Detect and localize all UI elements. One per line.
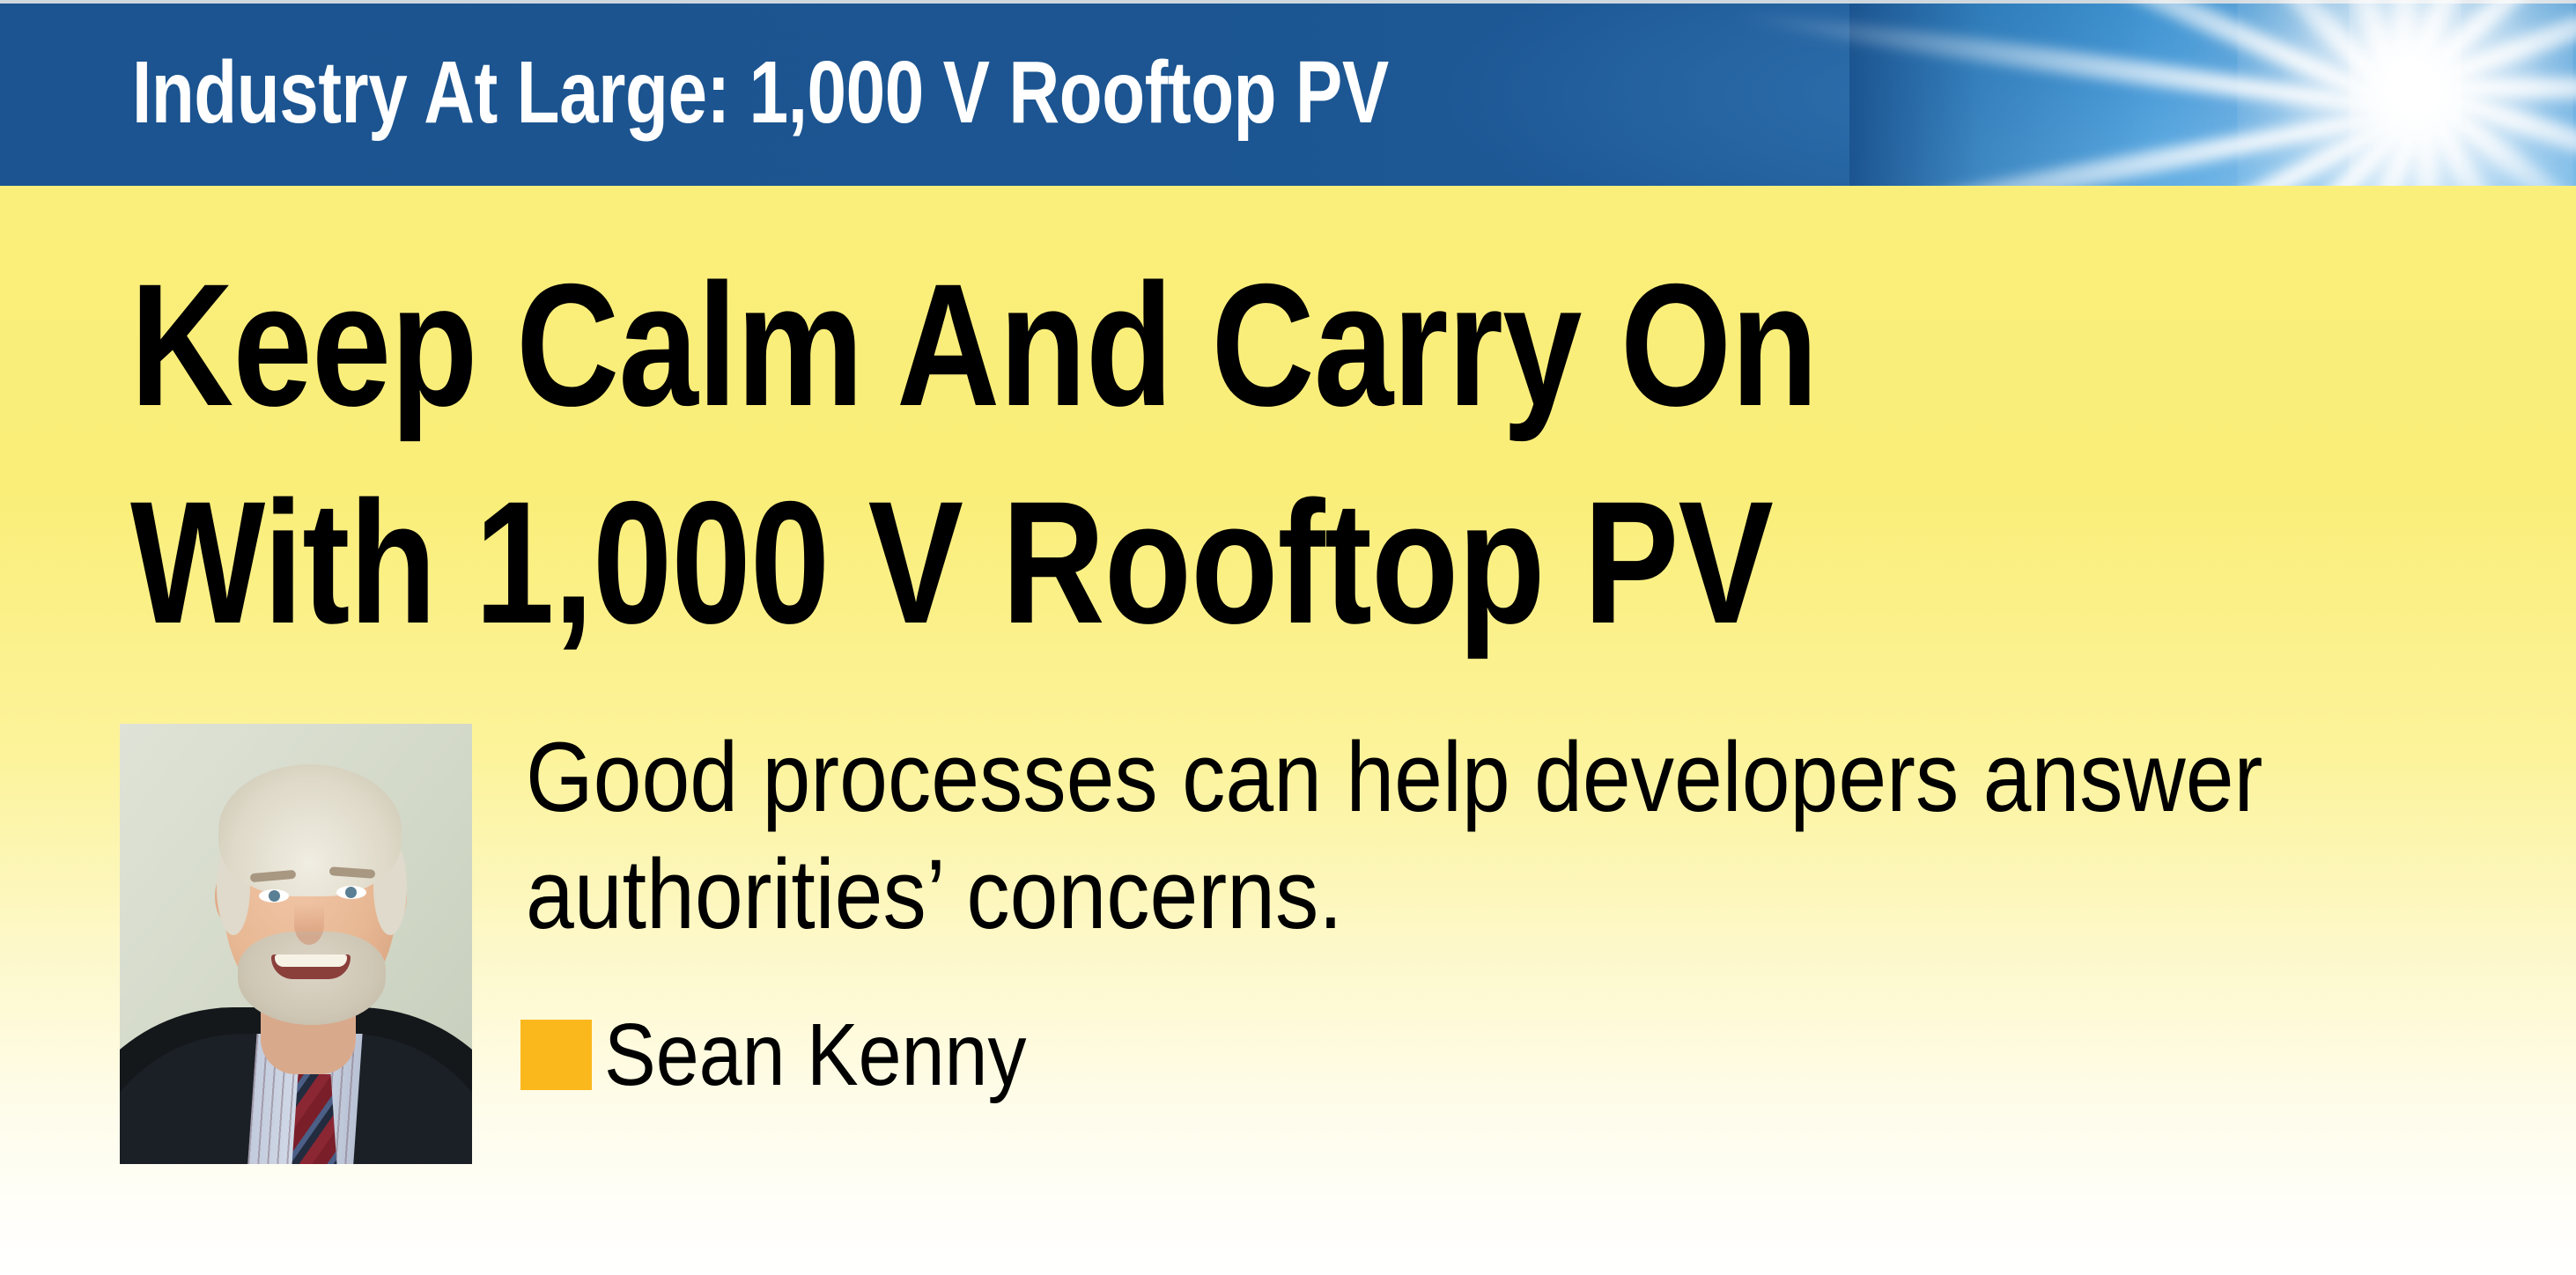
byline-author-name: Sean Kenny: [604, 1011, 1026, 1099]
byline-bullet-icon: [520, 1020, 592, 1090]
article-header-page: Industry At Large: 1,000 V Rooftop PV Ke…: [0, 0, 2576, 1275]
headshot-iris-right: [345, 887, 357, 898]
sun-burst-icon: [1849, 4, 2576, 186]
deck-line-2: authorities’ concerns.: [526, 836, 2231, 953]
headshot-iris-left: [269, 890, 280, 902]
page-title: Keep Calm And Carry On With 1,000 V Roof…: [130, 236, 2332, 671]
headshot-teeth: [275, 954, 347, 967]
headshot-mouth: [271, 954, 351, 979]
author-headshot-photo: [120, 724, 472, 1164]
headline-line-1: Keep Calm And Carry On: [130, 236, 1936, 453]
banner-kicker: Industry At Large: 1,000 V Rooftop PV: [132, 16, 1389, 170]
headline-line-2: With 1,000 V Rooftop PV: [130, 453, 1936, 671]
deck-line-1: Good processes can help developers answe…: [526, 719, 2231, 836]
byline: Sean Kenny: [520, 1011, 1084, 1099]
top-banner: Industry At Large: 1,000 V Rooftop PV: [0, 0, 2576, 186]
headshot-nose: [294, 904, 324, 945]
article-deck: Good processes can help developers answe…: [526, 719, 2463, 953]
